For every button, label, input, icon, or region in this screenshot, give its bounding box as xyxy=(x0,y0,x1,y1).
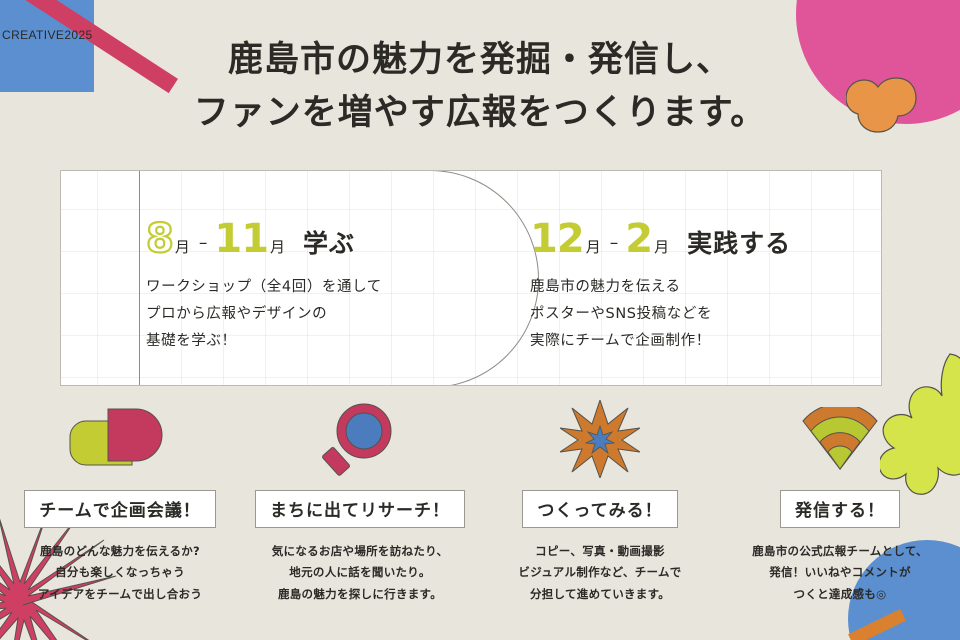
phase-description-line: 鹿島市の魅力を伝える xyxy=(530,274,881,301)
step-label: つくってみる！ xyxy=(522,490,677,528)
step-description-line: つくと達成感も◎ xyxy=(752,584,928,605)
step-description-line: 鹿島の魅力を探しに行きます。 xyxy=(272,584,449,605)
timeline-phase-practice: 12 月 – 2 月 実践する 鹿島市の魅力を伝える ポスターやSNS投稿などを… xyxy=(478,171,881,385)
phase-start-unit: 月 xyxy=(586,236,601,257)
phase-period: 12 月 – 2 月 実践する xyxy=(530,219,881,260)
step-label: まちに出てリサーチ！ xyxy=(255,490,465,528)
step-description: 鹿島市の公式広報チームとして、 発信！いいねやコメントが つくと達成感も◎ xyxy=(752,541,928,605)
timeline-phase-learn: 8 月 – 11 月 学ぶ ワークショップ（全4回）を通して プロから広報やデザ… xyxy=(61,171,478,385)
step-item: 発信する！ 鹿島市の公式広報チームとして、 発信！いいねやコメントが つくと達成… xyxy=(720,400,960,605)
phase-description-line: 基礎を学ぶ！ xyxy=(146,328,478,355)
phase-description: 鹿島市の魅力を伝える ポスターやSNS投稿などを 実際にチームで企画制作！ xyxy=(530,274,881,354)
page-title: 鹿島市の魅力を発掘・発信し、 ファンを増やす広報をつくります。 xyxy=(0,34,960,140)
phase-end-unit: 月 xyxy=(654,236,669,257)
timeline-panels: 8 月 – 11 月 学ぶ ワークショップ（全4回）を通して プロから広報やデザ… xyxy=(61,171,881,385)
phase-title: 実践する xyxy=(687,224,791,260)
magnifying-glass-icon xyxy=(320,400,400,478)
starburst-icon xyxy=(560,400,640,478)
step-description-line: 発信！いいねやコメントが xyxy=(752,562,928,583)
phase-dash: – xyxy=(199,233,208,253)
phase-dash: – xyxy=(610,233,619,253)
broadcast-wifi-icon xyxy=(801,400,879,478)
phase-end-unit: 月 xyxy=(270,236,285,257)
page-title-line-1: 鹿島市の魅力を発掘・発信し、 xyxy=(0,34,960,87)
step-description: 気になるお店や場所を訪ねたり、 地元の人に話を聞いたり。 鹿島の魅力を探しに行き… xyxy=(272,541,449,605)
step-description-line: 分担して進めていきます。 xyxy=(518,584,681,605)
step-description-line: ビジュアル制作など、チームで xyxy=(518,562,681,583)
step-item: まちに出てリサーチ！ 気になるお店や場所を訪ねたり、 地元の人に話を聞いたり。 … xyxy=(240,400,480,605)
step-description: 鹿島のどんな魅力を伝えるか? 自分も楽しくなっちゃう アイデアをチームで出し合お… xyxy=(38,541,202,605)
phase-end-number: 11 xyxy=(214,219,268,259)
step-item: つくってみる！ コピー、写真・動画撮影 ビジュアル制作など、チームで 分担して進… xyxy=(480,400,720,605)
timeline-box: 8 月 – 11 月 学ぶ ワークショップ（全4回）を通して プロから広報やデザ… xyxy=(60,170,882,386)
page-title-line-2: ファンを増やす広報をつくります。 xyxy=(0,87,960,140)
poster-canvas: CREATIVE2025 鹿島市の魅力を発掘・発信し、 ファンを増やす広報をつく… xyxy=(0,0,960,640)
phase-start-number: 8 xyxy=(146,219,173,259)
step-label: チームで企画会議！ xyxy=(24,490,216,528)
step-description-line: 鹿島市の公式広報チームとして、 xyxy=(752,541,928,562)
phase-title: 学ぶ xyxy=(303,224,355,260)
phase-description-line: 実際にチームで企画制作！ xyxy=(530,328,881,355)
steps-row: チームで企画会議！ 鹿島のどんな魅力を伝えるか? 自分も楽しくなっちゃう アイデ… xyxy=(0,400,960,605)
phase-description: ワークショップ（全4回）を通して プロから広報やデザインの 基礎を学ぶ！ xyxy=(146,274,478,354)
step-description-line: 地元の人に話を聞いたり。 xyxy=(272,562,449,583)
step-label: 発信する！ xyxy=(780,490,900,528)
phase-start-number: 12 xyxy=(530,219,584,259)
step-description: コピー、写真・動画撮影 ビジュアル制作など、チームで 分担して進めていきます。 xyxy=(518,541,681,605)
step-description-line: 自分も楽しくなっちゃう xyxy=(38,562,202,583)
phase-start-unit: 月 xyxy=(175,236,190,257)
phase-end-number: 2 xyxy=(625,219,652,259)
phase-description-line: ワークショップ（全4回）を通して xyxy=(146,274,478,301)
phase-period: 8 月 – 11 月 学ぶ xyxy=(146,219,478,260)
step-description-line: アイデアをチームで出し合おう xyxy=(38,584,202,605)
phase-description-line: プロから広報やデザインの xyxy=(146,301,478,328)
step-description-line: 鹿島のどんな魅力を伝えるか? xyxy=(38,541,202,562)
phase-description-line: ポスターやSNS投稿などを xyxy=(530,301,881,328)
step-item: チームで企画会議！ 鹿島のどんな魅力を伝えるか? 自分も楽しくなっちゃう アイデ… xyxy=(0,400,240,605)
speech-bubbles-icon xyxy=(64,400,176,478)
step-description-line: 気になるお店や場所を訪ねたり、 xyxy=(272,541,449,562)
step-description-line: コピー、写真・動画撮影 xyxy=(518,541,681,562)
